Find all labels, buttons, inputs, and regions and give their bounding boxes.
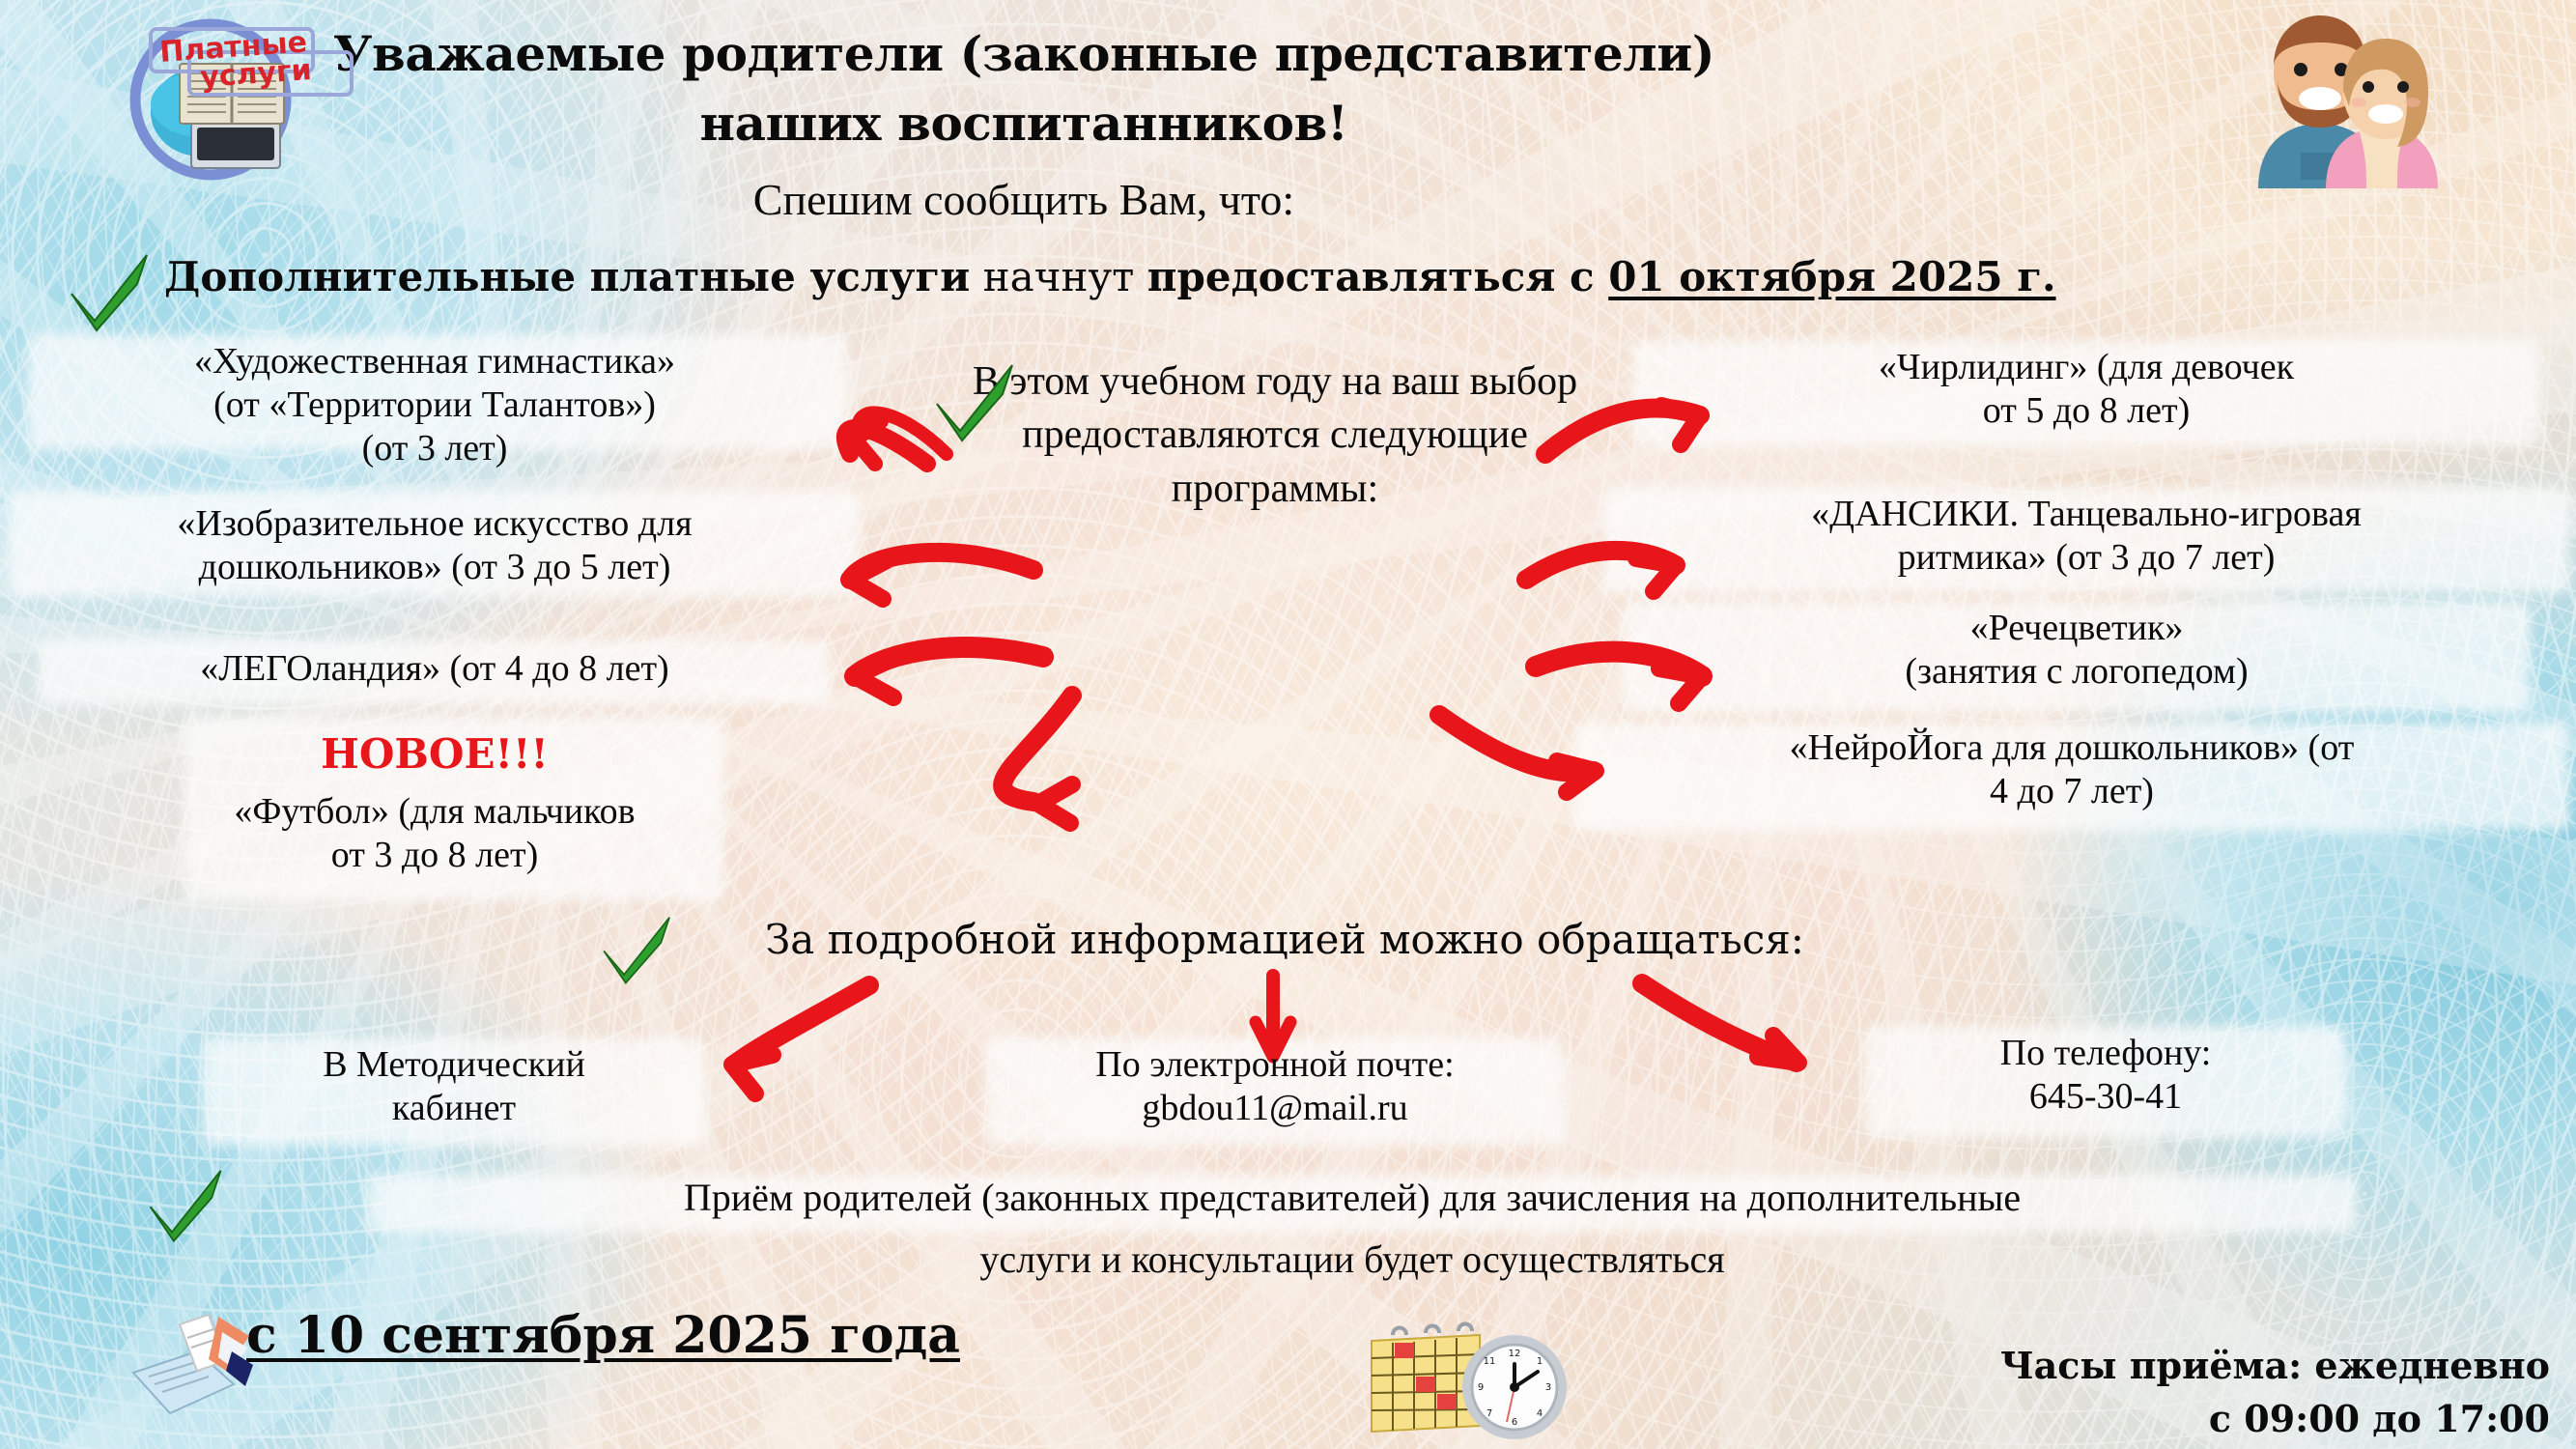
green-checkmark-icon <box>599 916 676 987</box>
contact-phone: По телефону: 645-30-41 <box>1854 1032 2357 1119</box>
program-name: «НейроЙога для дошкольников» (от <box>1574 726 2569 770</box>
program-name: «ЛЕГОландия» (от 4 до 8 лет) <box>19 647 850 691</box>
program-detail: (занятия с логопедом) <box>1623 650 2531 694</box>
program-item-dansiki: «ДАНСИКИ. Танцевально-игровая ритмика» (… <box>1603 493 2569 580</box>
svg-text:9: 9 <box>1478 1382 1484 1393</box>
announcement-part1: Дополнительные платные услуги <box>164 253 970 300</box>
reception-hours-line2: с 09:00 до 17:00 <box>1681 1392 2550 1445</box>
contact-label2: кабинет <box>203 1087 705 1130</box>
green-checkmark-icon <box>66 253 155 332</box>
program-item-rhythmic-gymnastics: «Художественная гимнастика» (от «Террито… <box>19 340 850 469</box>
paid-services-logo: Платные услуги <box>87 8 444 191</box>
svg-text:4: 4 <box>1537 1408 1543 1419</box>
program-age: ритмика» (от 3 до 7 лет) <box>1603 536 2569 580</box>
program-name: «Изобразительное искусство для <box>19 502 850 546</box>
svg-text:1: 1 <box>1537 1356 1543 1367</box>
program-item-cheerleading: «Чирлидинг» (для девочек от 5 до 8 лет) <box>1632 346 2540 433</box>
program-item-football: «Футбол» (для мальчиков от 3 до 8 лет) <box>19 790 850 877</box>
program-name: «Речецветик» <box>1623 607 2531 650</box>
logo-text-line2: услуги <box>199 53 313 95</box>
acceptance-start-date: с 10 сентября 2025 года <box>246 1306 960 1365</box>
program-name: «Футбол» (для мальчиков <box>19 790 850 834</box>
svg-text:12: 12 <box>1509 1349 1521 1359</box>
program-age: от 3 до 8 лет) <box>19 834 850 877</box>
new-badge: НОВОЕ!!! <box>19 730 850 779</box>
contacts-heading: За подробной информацией можно обращатьс… <box>599 916 1970 964</box>
reception-hours: Часы приёма: ежедневно с 09:00 до 17:00 <box>1681 1339 2550 1445</box>
program-age: дошкольников» (от 3 до 5 лет) <box>19 546 850 589</box>
notepad-pen-icon <box>126 1309 261 1425</box>
program-item-rechetsvetik: «Речецветик» (занятия с логопедом) <box>1623 607 2531 694</box>
svg-text:6: 6 <box>1512 1417 1517 1428</box>
contact-phone-label: По телефону: <box>1854 1032 2357 1075</box>
program-provider: (от «Территории Талантов») <box>19 384 850 427</box>
announcement-part3: предоставляться с <box>1147 253 1608 300</box>
contact-email-value[interactable]: gbdou11@mail.ru <box>966 1087 1584 1130</box>
acceptance-line1: Приём родителей (законных представителей… <box>174 1175 2531 1220</box>
announcement-start-date: 01 октября 2025 г. <box>1608 253 2055 300</box>
program-age: (от 3 лет) <box>19 427 850 470</box>
contact-method-office: В Методический кабинет <box>203 1043 705 1130</box>
green-checkmark-icon <box>931 363 1020 442</box>
program-item-fine-arts: «Изобразительное искусство для дошкольни… <box>19 502 850 589</box>
svg-text:11: 11 <box>1484 1356 1496 1367</box>
program-name: «ДАНСИКИ. Танцевально-игровая <box>1603 493 2569 536</box>
program-item-neuroyoga: «НейроЙога для дошкольников» (от 4 до 7 … <box>1574 726 2569 813</box>
green-checkmark-icon <box>145 1169 228 1244</box>
programs-intro-text: В этом учебном году на ваш выбор предост… <box>966 355 1584 516</box>
contact-email-label: По электронной почте: <box>966 1043 1584 1087</box>
contact-label: В Методический <box>203 1043 705 1087</box>
program-age: 4 до 7 лет) <box>1574 770 2569 813</box>
svg-text:3: 3 <box>1545 1382 1551 1393</box>
parents-couple-illustration <box>2250 10 2492 188</box>
program-name: «Художественная гимнастика» <box>19 340 850 384</box>
poster-canvas: Платные услуги <box>0 0 2576 1449</box>
main-announcement: Дополнительные платные услуги начнут пре… <box>164 253 2576 301</box>
calendar-clock-icon: 1213 467 911 <box>1352 1321 1574 1442</box>
reception-hours-line1: Часы приёма: ежедневно <box>1681 1339 2550 1392</box>
acceptance-line2: услуги и консультации будет осуществлять… <box>174 1236 2531 1282</box>
contact-email: По электронной почте: gbdou11@mail.ru <box>966 1043 1584 1130</box>
contact-phone-value[interactable]: 645-30-41 <box>1854 1075 2357 1119</box>
svg-text:7: 7 <box>1486 1408 1492 1419</box>
program-item-legoland: «ЛЕГОландия» (от 4 до 8 лет) <box>19 647 850 691</box>
program-name: «Чирлидинг» (для девочек <box>1632 346 2540 389</box>
announcement-part2: начнут <box>970 253 1146 300</box>
program-age: от 5 до 8 лет) <box>1632 389 2540 433</box>
